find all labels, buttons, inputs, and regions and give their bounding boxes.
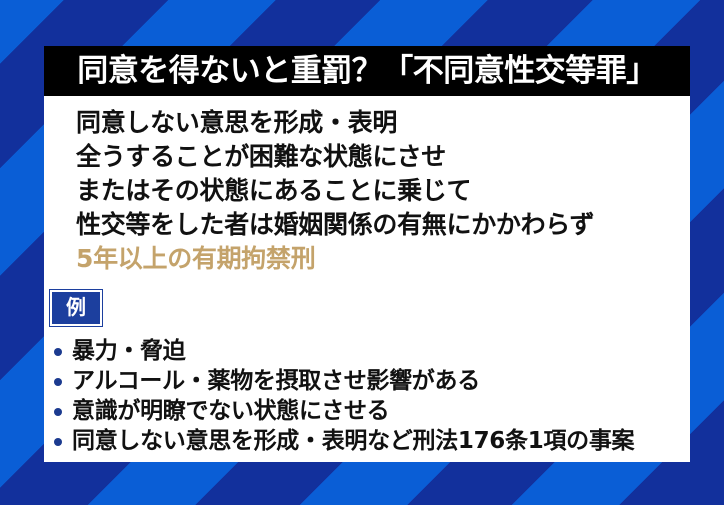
example-section-tag: 例 — [50, 290, 102, 326]
statute-line: 全うすることが困難な状態にさせ — [76, 140, 690, 174]
statute-text-block: 同意しない意思を形成・表明 全うすることが困難な状態にさせ またはその状態にある… — [44, 106, 690, 276]
list-item: 同意しない意思を形成・表明など刑法176条1項の事案 — [52, 426, 690, 456]
bullet-dot-icon — [54, 348, 62, 356]
title-banner: 同意を得ないと重罰？「不同意性交等罪」 — [44, 46, 690, 96]
list-item-label: 意識が明瞭でない状態にさせる — [72, 398, 389, 424]
bullet-dot-icon — [54, 378, 62, 386]
statute-line: またはその状態にあることに乗じて — [76, 174, 690, 208]
page-title: 同意を得ないと重罰？「不同意性交等罪」 — [77, 56, 657, 87]
list-item-label: 同意しない意思を形成・表明など刑法176条1項の事案 — [72, 428, 634, 454]
list-item-label: 暴力・脅迫 — [72, 338, 186, 364]
list-item-label: アルコール・薬物を摂取させ影響がある — [72, 368, 480, 394]
list-item: アルコール・薬物を摂取させ影響がある — [52, 366, 690, 396]
example-tag-row: 例 — [44, 276, 690, 326]
bullet-dot-icon — [54, 408, 62, 416]
content-panel: 同意しない意思を形成・表明 全うすることが困難な状態にさせ またはその状態にある… — [44, 96, 690, 462]
statute-line: 性交等をした者は婚姻関係の有無にかかわらず — [76, 208, 690, 242]
list-item: 意識が明瞭でない状態にさせる — [52, 396, 690, 426]
statute-line-penalty: 5年以上の有期拘禁刑 — [76, 242, 690, 276]
list-item: 暴力・脅迫 — [52, 336, 690, 366]
statute-line: 同意しない意思を形成・表明 — [76, 106, 690, 140]
infographic-slide: 同意を得ないと重罰？「不同意性交等罪」 同意しない意思を形成・表明 全うすること… — [0, 0, 724, 505]
bullet-dot-icon — [54, 438, 62, 446]
example-list: 暴力・脅迫 アルコール・薬物を摂取させ影響がある 意識が明瞭でない状態にさせる … — [44, 336, 690, 456]
